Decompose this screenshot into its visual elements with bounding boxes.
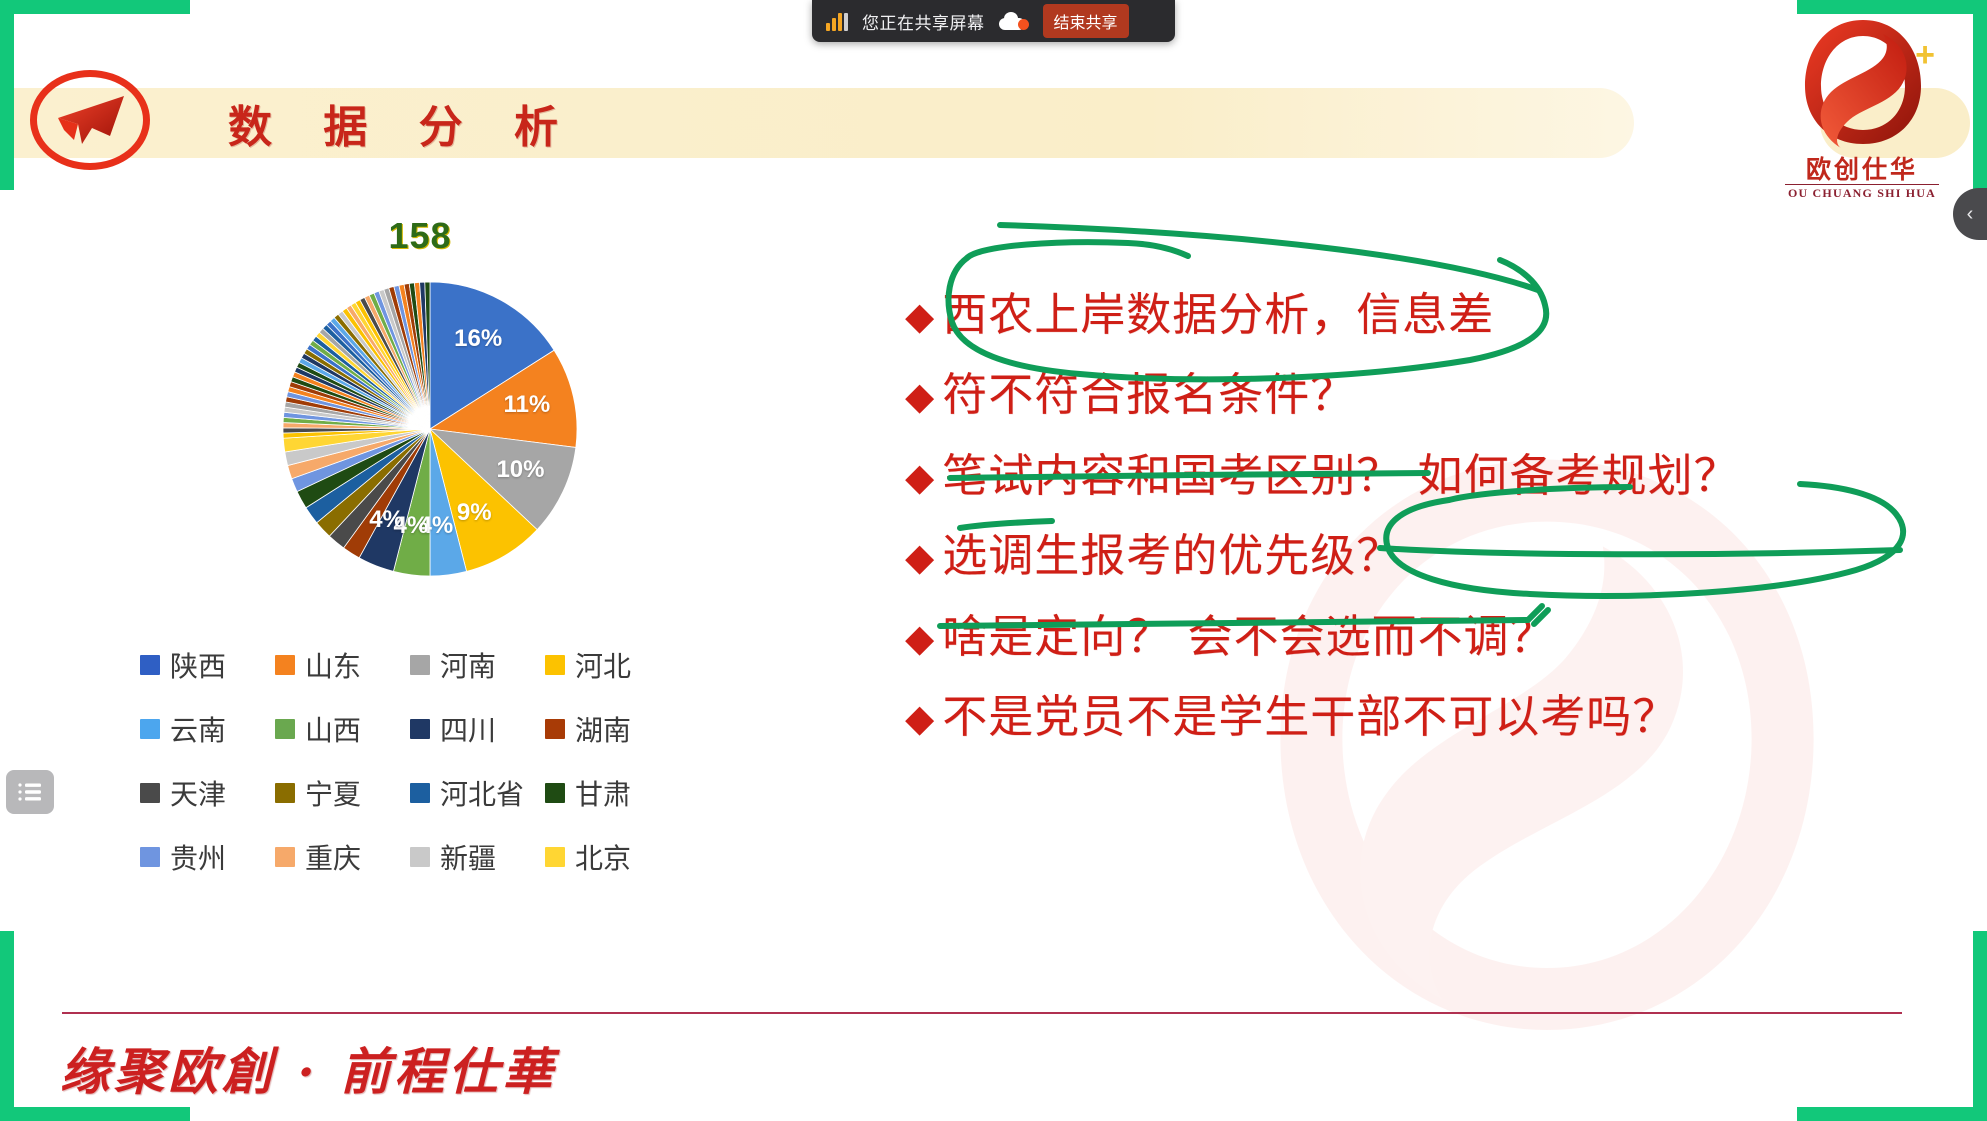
legend-label: 河南: [440, 645, 496, 685]
legend-swatch-icon: [140, 655, 160, 675]
legend-item[interactable]: 河南: [410, 645, 545, 685]
legend-label: 新疆: [440, 837, 496, 877]
bullet-list: ◆西农上岸数据分析，信息差◆符不符合报名条件？◆笔试内容和国考区别？ 如何备考规…: [905, 290, 1965, 772]
legend-swatch-icon: [545, 655, 565, 675]
legend-swatch-icon: [140, 847, 160, 867]
legend-item[interactable]: 新疆: [410, 837, 545, 877]
legend-swatch-icon: [140, 719, 160, 739]
legend-label: 甘肃: [575, 773, 631, 813]
legend-label: 贵州: [170, 837, 226, 877]
legend-label: 河北: [575, 645, 631, 685]
legend-item[interactable]: 宁夏: [275, 773, 410, 813]
end-share-button[interactable]: 结束共享: [1043, 4, 1129, 38]
legend-item[interactable]: 天津: [140, 773, 275, 813]
cloud-record-icon[interactable]: [999, 12, 1029, 30]
legend-swatch-icon: [545, 719, 565, 739]
legend-swatch-icon: [275, 655, 295, 675]
frame-corner-top-right: [1797, 0, 1987, 14]
bullet-text: 西农上岸数据分析，信息差: [942, 290, 1494, 340]
bullet-item: ◆西农上岸数据分析，信息差: [905, 290, 1965, 340]
pie-chart: 16%11%10%9%4%4%4%: [280, 279, 580, 579]
bullet-item: ◆不是党员不是学生干部不可以考吗？: [905, 692, 1965, 742]
bullet-text: 啥是定向？ 会不会选而不调？: [942, 612, 1555, 662]
legend-item[interactable]: 陕西: [140, 645, 275, 685]
frame-corner-bottom-left: [0, 1107, 190, 1121]
chevron-left-icon: ‹: [1967, 203, 1974, 226]
legend-item[interactable]: 湖南: [545, 709, 680, 749]
legend-label: 河北省: [440, 773, 524, 813]
legend-label: 重庆: [305, 837, 361, 877]
frame-edge-right-top: [1973, 0, 1987, 190]
legend-item[interactable]: 河北省: [410, 773, 545, 813]
bullet-item: ◆笔试内容和国考区别？ 如何备考规划？: [905, 451, 1965, 501]
bullet-diamond-icon: ◆: [905, 620, 934, 658]
signal-bars-icon: [826, 11, 848, 31]
legend-item[interactable]: 山西: [275, 709, 410, 749]
frame-edge-left-top: [0, 0, 14, 190]
legend-label: 山西: [305, 709, 361, 749]
legend-label: 陕西: [170, 645, 226, 685]
frame-corner-top-left: [0, 0, 190, 14]
frame-edge-left-bottom: [0, 931, 14, 1121]
bullet-text: 笔试内容和国考区别？ 如何备考规划？: [942, 451, 1739, 501]
legend-swatch-icon: [545, 783, 565, 803]
bullet-item: ◆啥是定向？ 会不会选而不调？: [905, 612, 1965, 662]
list-menu-icon: [17, 782, 43, 802]
screen-share-bar: 您正在共享屏幕 结束共享: [812, 0, 1175, 42]
oucshuahua-brand-icon: [1797, 16, 1927, 148]
legend-item[interactable]: 河北: [545, 645, 680, 685]
red-paper-plane-icon: [52, 92, 128, 148]
legend-swatch-icon: [275, 719, 295, 739]
legend-label: 山东: [305, 645, 361, 685]
logo-pinyin-name: OU CHUANG SHI HUA: [1767, 186, 1957, 201]
list-menu-button[interactable]: [6, 770, 54, 814]
legend-label: 云南: [170, 709, 226, 749]
bullet-text: 符不符合报名条件？: [942, 370, 1356, 420]
legend-swatch-icon: [275, 847, 295, 867]
legend-label: 湖南: [575, 709, 631, 749]
logo-plus-icon: +: [1915, 38, 1935, 72]
title-badge: [30, 70, 150, 170]
legend-swatch-icon: [410, 655, 430, 675]
legend-item[interactable]: 甘肃: [545, 773, 680, 813]
bullet-item: ◆选调生报考的优先级？: [905, 531, 1965, 581]
chart-title: 158: [210, 215, 630, 257]
legend-item[interactable]: 四川: [410, 709, 545, 749]
bullet-diamond-icon: ◆: [905, 700, 934, 738]
logo-divider: [1785, 184, 1939, 185]
bullet-diamond-icon: ◆: [905, 459, 934, 497]
legend-label: 四川: [440, 709, 496, 749]
legend-swatch-icon: [410, 847, 430, 867]
legend-item[interactable]: 云南: [140, 709, 275, 749]
footer-divider: [62, 1012, 1902, 1014]
frame-corner-bottom-right: [1797, 1107, 1987, 1121]
footer-slogan: 缘聚欧創 · 前程仕華: [60, 1032, 556, 1104]
bullet-diamond-icon: ◆: [905, 539, 934, 577]
bullet-diamond-icon: ◆: [905, 378, 934, 416]
bullet-diamond-icon: ◆: [905, 298, 934, 336]
bullet-text: 不是党员不是学生干部不可以考吗？: [942, 692, 1678, 742]
legend-item[interactable]: 贵州: [140, 837, 275, 877]
legend-swatch-icon: [410, 719, 430, 739]
slide-root: 您正在共享屏幕 结束共享 数 据 分 析: [0, 0, 1987, 1121]
legend-swatch-icon: [275, 783, 295, 803]
legend-swatch-icon: [140, 783, 160, 803]
pie-chart-svg: [280, 279, 580, 579]
page-title: 数 据 分 析: [228, 88, 576, 158]
legend-item[interactable]: 山东: [275, 645, 410, 685]
legend-item[interactable]: 重庆: [275, 837, 410, 877]
legend-swatch-icon: [545, 847, 565, 867]
legend-label: 天津: [170, 773, 226, 813]
logo-chinese-name: 欧创仕华: [1767, 150, 1957, 186]
chart-legend: 陕西山东河南河北云南山西四川湖南天津宁夏河北省甘肃贵州重庆新疆北京: [140, 645, 680, 877]
frame-edge-right-bottom: [1973, 931, 1987, 1121]
panel-collapse-button[interactable]: ‹: [1953, 188, 1987, 240]
legend-label: 北京: [575, 837, 631, 877]
brand-logo: + 欧创仕华 OU CHUANG SHI HUA: [1767, 14, 1957, 194]
legend-label: 宁夏: [305, 773, 361, 813]
bullet-text: 选调生报考的优先级？: [942, 531, 1402, 581]
share-status-text: 您正在共享屏幕: [862, 9, 985, 34]
legend-item[interactable]: 北京: [545, 837, 680, 877]
bullet-item: ◆符不符合报名条件？: [905, 370, 1965, 420]
legend-swatch-icon: [410, 783, 430, 803]
